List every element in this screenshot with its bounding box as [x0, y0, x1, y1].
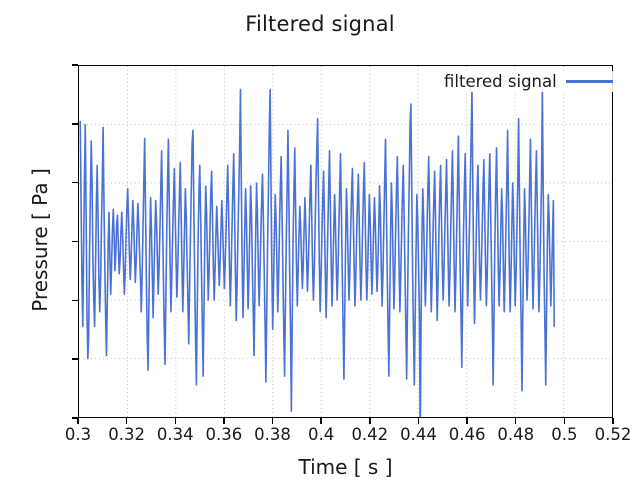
x-tick-mark	[77, 418, 78, 424]
x-tick-mark	[223, 418, 224, 424]
y-tick-mark	[72, 182, 78, 183]
x-tick-mark	[418, 418, 419, 424]
y-tick-mark	[72, 241, 78, 242]
y-tick-mark	[72, 300, 78, 301]
x-tick-mark	[272, 418, 273, 424]
chart-figure: Filtered signal filtered signal 0.30.320…	[0, 0, 640, 480]
x-tick-mark	[466, 418, 467, 424]
y-tick-mark	[72, 64, 78, 65]
x-tick-mark	[612, 418, 613, 424]
x-tick-mark	[126, 418, 127, 424]
chart-title: Filtered signal	[0, 12, 640, 36]
x-tick-mark	[564, 418, 565, 424]
y-axis-label: Pressure [ Pa ]	[28, 40, 52, 440]
x-tick-mark	[175, 418, 176, 424]
legend[interactable]: filtered signal	[440, 71, 617, 92]
x-axis-label: Time [ s ]	[78, 455, 613, 479]
x-tick-mark	[320, 418, 321, 424]
plot-area	[78, 65, 613, 418]
x-tick-label: 0.52	[578, 425, 640, 444]
y-tick-mark	[72, 358, 78, 359]
x-tick-mark	[369, 418, 370, 424]
y-tick-mark	[72, 417, 78, 418]
signal-line-series	[79, 66, 612, 417]
y-tick-mark	[72, 123, 78, 124]
legend-line-swatch	[566, 80, 613, 83]
x-tick-mark	[515, 418, 516, 424]
legend-label-filtered-signal: filtered signal	[444, 72, 557, 91]
